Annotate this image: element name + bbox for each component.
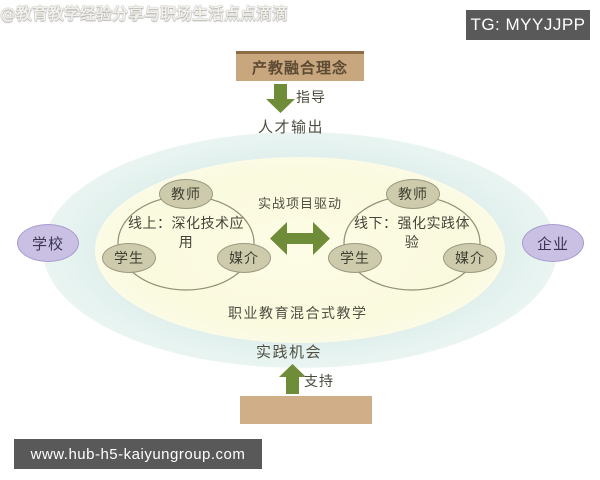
right-cycle-node-media: 媒介 [443, 243, 497, 273]
support-arrow-label: 支持 [304, 371, 334, 391]
diagram-canvas: 产教融合理念 指导 人才输出 学校 企业 实战项目驱动 线上：深化技术应用 教师… [0, 0, 600, 480]
guide-arrow-label: 指导 [296, 87, 326, 107]
right-cycle-node-student: 学生 [328, 243, 382, 273]
left-cycle-node-teacher: 教师 [159, 179, 213, 209]
practice-chance-label: 实践机会 [256, 341, 322, 362]
arrow-down-icon [266, 84, 295, 113]
bottom-box [240, 396, 372, 424]
site-watermark-badge: www.hub-h5-kaiyungroup.com [14, 439, 262, 469]
tg-watermark-badge: TG: MYYJJPP [466, 10, 590, 40]
side-node-enterprise: 企业 [522, 224, 584, 262]
concept-box: 产教融合理念 [236, 51, 364, 81]
left-cycle-node-student: 学生 [102, 243, 156, 273]
arrow-up-icon [279, 364, 306, 394]
project-driven-label: 实战项目驱动 [258, 193, 342, 212]
left-cycle-node-media: 媒介 [217, 243, 271, 273]
blended-teaching-label: 职业教育混合式教学 [228, 303, 368, 323]
side-node-school: 学校 [17, 224, 79, 262]
talent-output-label: 人才输出 [258, 116, 324, 137]
right-cycle-node-teacher: 教师 [386, 179, 440, 209]
